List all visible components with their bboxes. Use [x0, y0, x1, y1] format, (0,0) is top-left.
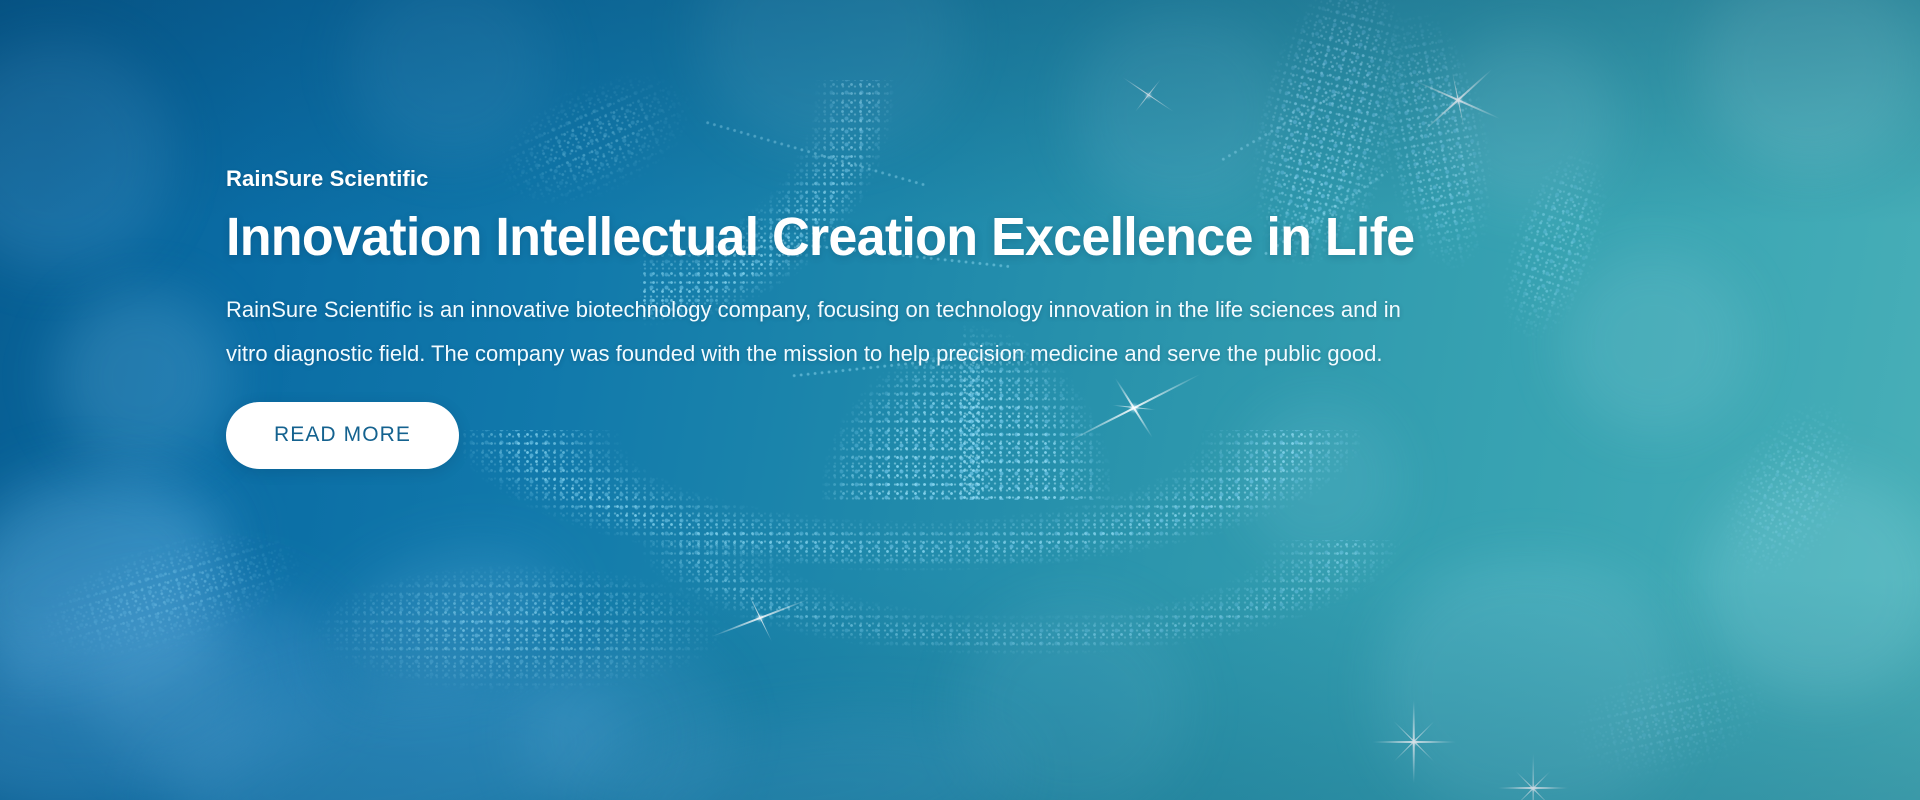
hero-cta-wrap: READ MORE: [226, 402, 1686, 469]
hero-eyebrow: RainSure Scientific: [226, 166, 1686, 192]
hero-description: RainSure Scientific is an innovative bio…: [226, 288, 1401, 376]
page-title: Innovation Intellectual Creation Excelle…: [226, 208, 1635, 266]
hero-content: RainSure Scientific Innovation Intellect…: [226, 166, 1686, 469]
hero-banner: RainSure Scientific Innovation Intellect…: [0, 0, 1920, 800]
read-more-button[interactable]: READ MORE: [226, 402, 459, 469]
